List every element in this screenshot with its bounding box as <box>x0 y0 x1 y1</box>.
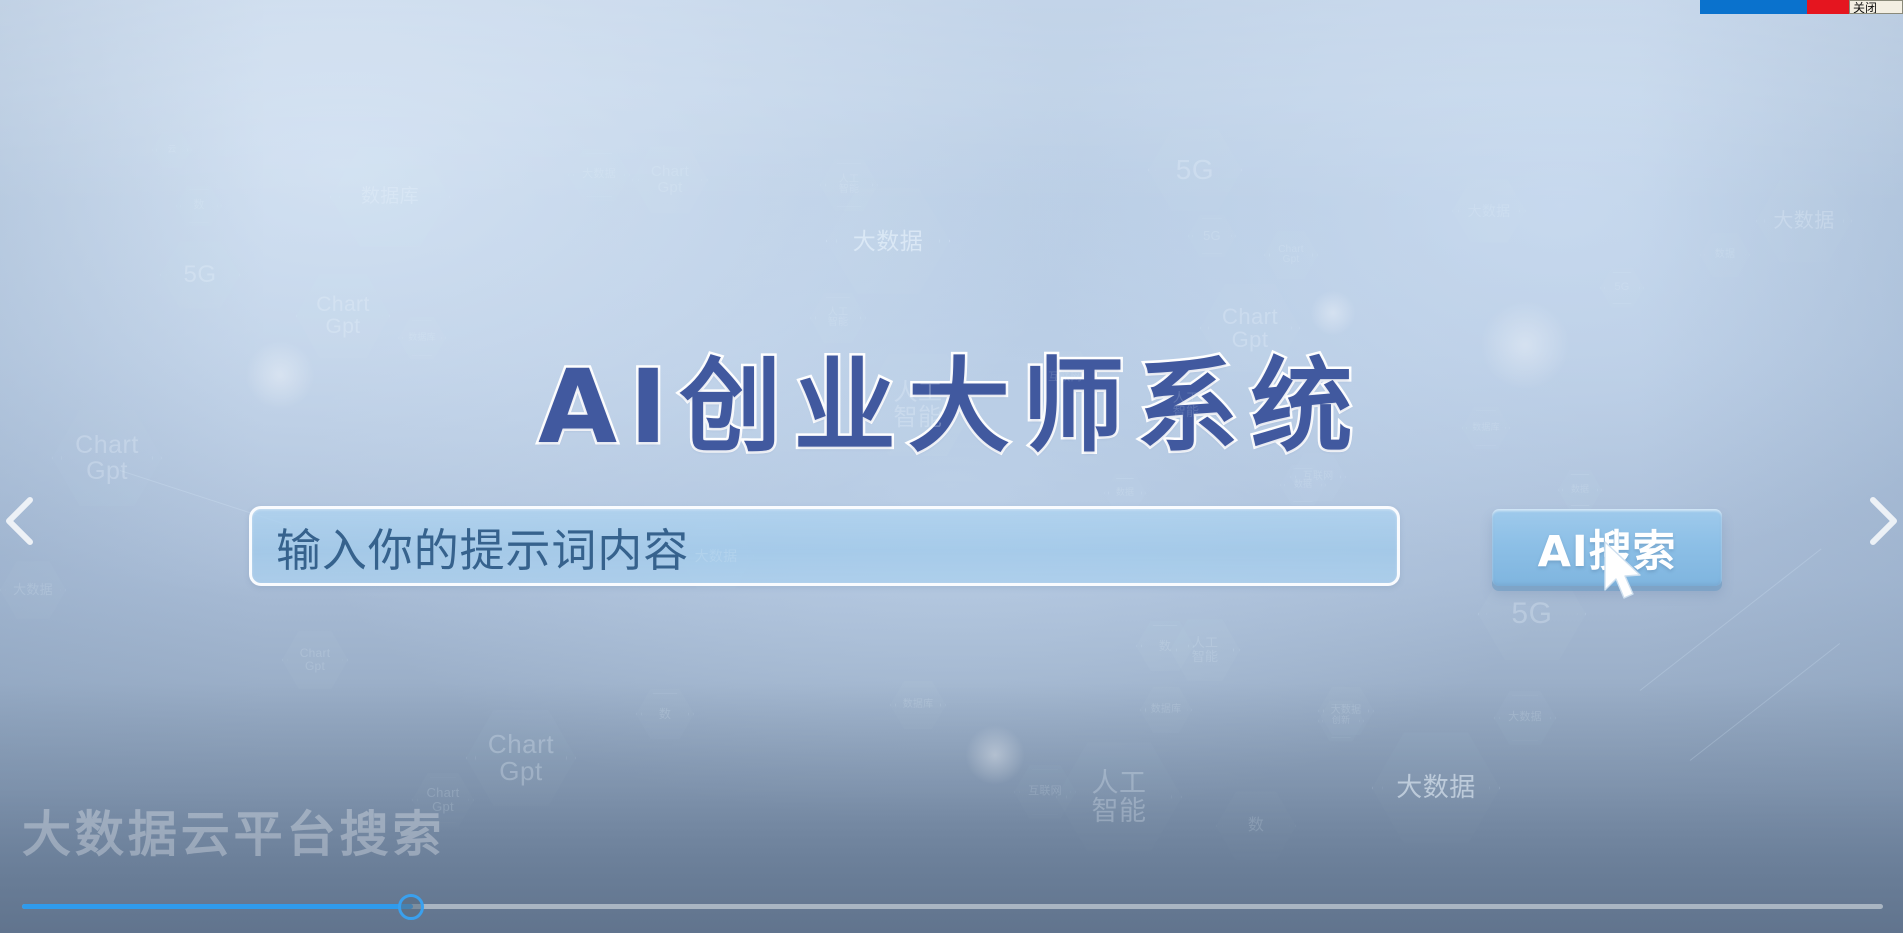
bokeh-light <box>1310 290 1356 336</box>
close-button[interactable]: 关闭 <box>1849 0 1903 14</box>
ai-search-button-label: AI搜索 <box>1538 517 1677 579</box>
ai-search-button[interactable]: AI搜索 <box>1492 509 1722 586</box>
chrome-blue-bar <box>1700 0 1807 14</box>
progress-fill <box>22 904 413 909</box>
prompt-input-placeholder: 输入你的提示词内容 <box>276 514 689 579</box>
carousel-next-button[interactable] <box>1859 492 1903 550</box>
chevron-left-icon <box>0 492 44 550</box>
bokeh-light <box>245 340 315 410</box>
chevron-right-icon <box>1859 492 1903 550</box>
progress-slider[interactable] <box>0 889 1903 933</box>
chrome-red-block <box>1807 0 1849 14</box>
search-bar: 输入你的提示词内容 AI搜索 <box>0 506 1903 594</box>
progress-handle[interactable] <box>398 894 424 920</box>
background-gradient <box>0 0 1903 933</box>
app-viewport: 数据库数5GChart Gpt大数据Chart Gpt人工 智能大数据人工 智能… <box>0 0 1903 933</box>
carousel-prev-button[interactable] <box>0 492 44 550</box>
top-right-chrome-strip: 关闭 <box>1700 0 1903 14</box>
prompt-input[interactable]: 输入你的提示词内容 <box>249 506 1400 586</box>
bokeh-light <box>965 725 1025 785</box>
bokeh-light <box>1480 300 1570 390</box>
